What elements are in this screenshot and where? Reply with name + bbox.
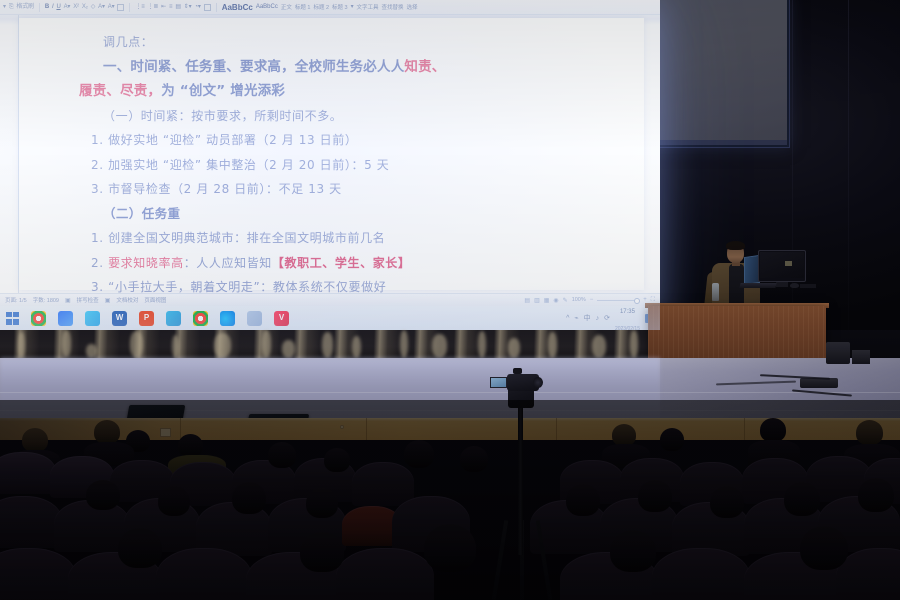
camcorder-lcd-screen: [490, 377, 507, 388]
audience-head: [566, 484, 600, 516]
doc-line-1-red: 知责、: [404, 59, 445, 75]
status-left-group: 页面: 1/5 字数: 1809 ▣ 拼写检查 ▣ 文档校对 页面视图: [5, 296, 166, 304]
clock-time: 17:35: [620, 309, 635, 315]
highlight-color-button[interactable]: A▾: [98, 4, 105, 10]
document-canvas[interactable]: 调几点： 一、时间紧、任务重、要求高，全校师生务必人人知责、 履责、尽责，为 “…: [0, 15, 660, 293]
style-label: 格式刷: [16, 4, 33, 10]
document-text-body: 调几点： 一、时间紧、任务重、要求高，全校师生务必人人知责、 履责、尽责，为 “…: [79, 30, 609, 293]
web-layout-view-icon[interactable]: ▦: [544, 297, 550, 304]
audience-head: [612, 424, 636, 446]
styles-more-icon[interactable]: ▾: [351, 4, 354, 10]
superscript-button[interactable]: X²: [73, 4, 79, 10]
font-dropdown-icon[interactable]: ▾: [3, 4, 6, 10]
style-preview-text: AaBbCc: [222, 3, 253, 12]
line-spacing-button[interactable]: ⇕▾: [184, 4, 192, 10]
sync-icon[interactable]: ⟳: [604, 314, 610, 322]
monitor-indicator: [785, 261, 792, 266]
chrome-icon[interactable]: [31, 311, 46, 326]
spellcheck-icon[interactable]: ▣: [65, 297, 71, 304]
v-app-icon[interactable]: V: [274, 311, 289, 326]
audience-head: [324, 448, 350, 472]
mail-icon[interactable]: [85, 311, 100, 326]
edit-pen-icon[interactable]: ✎: [563, 297, 568, 304]
wall-seam: [848, 0, 849, 330]
ribbon-divider: [39, 3, 40, 12]
zoom-slider[interactable]: [597, 300, 639, 301]
doc-line-7: （二）任务重: [79, 202, 609, 227]
font-color-button[interactable]: A▾: [108, 4, 115, 10]
audience-seat: [156, 548, 252, 600]
taskbar-tray: ^ ⌁ 中 ♪ ⟳ 17:35 2023/02/15: [566, 306, 658, 330]
align-left-button[interactable]: ▤: [175, 4, 180, 10]
speaker-hair: [726, 241, 745, 250]
stage-equipment-case: [826, 342, 850, 364]
doc-line-2-red: 履责、尽责，: [79, 83, 161, 99]
shading-button[interactable]: ◔▾: [194, 4, 200, 10]
file-explorer-icon[interactable]: [247, 311, 262, 326]
audience-head: [460, 446, 488, 472]
document-page[interactable]: 调几点： 一、时间紧、任务重、要求高，全校师生务必人人知责、 履责、尽责，为 “…: [19, 18, 644, 290]
computer-mouse: [790, 283, 799, 288]
style-normal[interactable]: 正文: [281, 3, 292, 11]
auditorium-scene: ▾ ⎘ 格式刷 B I U A▾ X² X₂ ◇ A▾ A▾ ⋮≡ ⋮≣ ⇤ ≡…: [0, 0, 900, 600]
audience-head: [610, 530, 656, 572]
audience-seat: [652, 548, 750, 600]
borders-button[interactable]: [204, 4, 211, 11]
bullet-list-button[interactable]: ⋮≡: [135, 4, 144, 10]
audience-head: [404, 440, 434, 468]
audience-seat: [0, 496, 62, 548]
ribbon-divider: [129, 3, 130, 12]
audience-head: [306, 488, 338, 518]
bold-button[interactable]: B: [45, 4, 49, 10]
doc-line-0: 调几点：: [79, 30, 609, 55]
audience-head: [178, 434, 203, 457]
edge-icon[interactable]: [220, 311, 235, 326]
audience-head: [858, 478, 894, 512]
text-effect-button[interactable]: [117, 4, 124, 11]
doc-line-5: 2. 加强实地 “迎检” 集中整治（2 月 20 日前）：5 天: [79, 153, 609, 178]
doc-line-9-num: 2.: [91, 256, 108, 270]
audience-head: [424, 524, 476, 572]
doc-line-9: 2. 要求知晓率高：人人应知皆知【教职工、学生、家长】: [79, 251, 609, 276]
view-mode-status[interactable]: 页面视图: [144, 296, 166, 304]
print-layout-view-icon[interactable]: ▤: [524, 297, 530, 304]
find-replace-button[interactable]: 查找替换: [381, 3, 403, 11]
italic-button[interactable]: I: [52, 4, 53, 10]
stage-equipment-box: [852, 350, 870, 364]
stage-backdrop-band: [0, 330, 660, 358]
outline-view-icon[interactable]: ◉: [553, 297, 558, 304]
doc-line-2: 履责、尽责，为 “创文” 增光添彩: [79, 79, 609, 104]
audience-head: [300, 532, 344, 572]
team-app-icon[interactable]: [166, 311, 181, 326]
status-right-group: ▤ ▥ ▦ ◉ ✎ 100% − + ⛶: [524, 297, 655, 304]
text-tools-button[interactable]: 文字工具: [356, 3, 378, 11]
secondary-screen-surface: [639, 0, 787, 140]
page-count-status: 页面: 1/5: [5, 296, 27, 304]
audience-head: [784, 482, 820, 516]
audience-head: [660, 428, 684, 451]
windows-taskbar[interactable]: W P V ^ ⌁ 中 ♪ ⟳ 17:35 2023/02/15: [0, 306, 660, 330]
clear-format-button[interactable]: ◇: [91, 4, 95, 10]
camcorder-lens-icon: [533, 377, 543, 388]
secondary-screen-bottom-bar: [639, 140, 787, 145]
audience-head: [94, 420, 120, 444]
zoom-out-icon[interactable]: −: [590, 297, 594, 303]
spellcheck-status[interactable]: 拼写检查: [77, 296, 99, 304]
audience-head: [118, 528, 162, 568]
doc-line-10: 3. “小手拉大手，朝着文明走”：教体系统不仅要做好: [79, 275, 609, 293]
word-icon[interactable]: W: [112, 311, 127, 326]
input-method-icon[interactable]: 中: [584, 313, 591, 323]
powerpoint-icon[interactable]: P: [139, 311, 154, 326]
audience-seat: [336, 548, 434, 600]
audience-seat: [0, 452, 56, 494]
doc-line-2-text: 为 “创文” 增光添彩: [161, 83, 285, 99]
audience-head: [856, 420, 883, 445]
doc-line-1: 一、时间紧、任务重、要求高，全校师生务必人人知责、: [79, 55, 609, 80]
doc-line-4: 1. 做好实地 “迎检” 动员部署（2 月 13 日前）: [79, 128, 609, 153]
audience-head: [232, 482, 266, 514]
laptop-keyboard-base: [739, 283, 776, 288]
network-icon[interactable]: ⌁: [574, 314, 578, 322]
volume-icon[interactable]: ♪: [596, 315, 600, 322]
floor-seam: [0, 392, 900, 393]
doc-line-8: 1. 创建全国文明典范城市：排在全国文明城市前几名: [79, 226, 609, 251]
wps-icon[interactable]: [58, 311, 73, 326]
audience-head: [638, 480, 672, 512]
reading-view-icon[interactable]: ▥: [534, 297, 540, 304]
browser-icon[interactable]: [193, 311, 208, 326]
tray-expand-icon[interactable]: ^: [566, 315, 569, 322]
doc-line-9-red: 要求知晓率高: [108, 256, 184, 270]
audience-head: [800, 526, 848, 570]
taskbar-clock[interactable]: 17:35 2023/02/15: [615, 306, 640, 330]
style-preview-text-2: AaBbCc: [256, 4, 278, 10]
camcorder-microphone: [513, 368, 522, 374]
doc-line-6: 3. 市督导检查（2 月 28 日前）：不足 13 天: [79, 177, 609, 202]
style-heading-2[interactable]: 标题 2: [313, 3, 329, 11]
word-status-bar[interactable]: 页面: 1/5 字数: 1809 ▣ 拼写检查 ▣ 文档校对 页面视图 ▤ ▥ …: [0, 293, 660, 306]
stage-equipment-low: [800, 378, 838, 388]
subscript-button[interactable]: X₂: [82, 4, 88, 10]
audience-head: [22, 428, 48, 452]
doc-line-3: （一）时间紧：按市要求，所剩时间不多。: [79, 104, 609, 129]
style-heading-1[interactable]: 标题 1: [295, 3, 311, 11]
tripod-column: [518, 405, 523, 555]
zoom-level-label[interactable]: 100%: [572, 297, 586, 303]
audience-head: [268, 442, 296, 468]
audience-head: [86, 480, 120, 510]
decrease-indent-button[interactable]: ⇤: [161, 4, 166, 10]
monitor-stand: [776, 282, 788, 287]
audience-head: [158, 486, 190, 516]
water-bottle: [712, 283, 719, 301]
strikethrough-button[interactable]: A▾: [64, 4, 71, 10]
podium-item: [800, 284, 816, 288]
doc-line-9-mid: ：人人应知皆知: [184, 256, 272, 270]
main-projection-screen: ▾ ⎘ 格式刷 B I U A▾ X² X₂ ◇ A▾ A▾ ⋮≡ ⋮≣ ⇤ ≡…: [0, 0, 660, 330]
numbered-list-button[interactable]: ⋮≣: [148, 4, 159, 10]
windows-start-icon[interactable]: [6, 312, 19, 325]
audience-head: [710, 486, 744, 518]
podium-monitor-screen: [760, 252, 804, 278]
select-button[interactable]: 选择: [406, 3, 417, 11]
style-heading-3[interactable]: 标题 3: [332, 3, 348, 11]
audience-head: [760, 418, 786, 442]
proofread-status[interactable]: 文档校对: [116, 296, 138, 304]
audience-seat: [352, 462, 414, 506]
doc-line-9-red-bold: 【教职工、学生、家长】: [272, 256, 411, 270]
proofread-icon[interactable]: ▣: [105, 297, 111, 304]
underline-button[interactable]: U: [56, 4, 60, 10]
word-count-status[interactable]: 字数: 1809: [33, 296, 59, 304]
increase-indent-button[interactable]: ≡: [169, 4, 172, 10]
ribbon-divider: [216, 3, 217, 12]
word-ribbon-toolbar[interactable]: ▾ ⎘ 格式刷 B I U A▾ X² X₂ ◇ A▾ A▾ ⋮≡ ⋮≣ ⇤ ≡…: [0, 0, 660, 15]
doc-line-1-text: 一、时间紧、任务重、要求高，全校师生务必人人: [103, 59, 404, 75]
format-painter-icon[interactable]: ⎘: [9, 4, 14, 10]
